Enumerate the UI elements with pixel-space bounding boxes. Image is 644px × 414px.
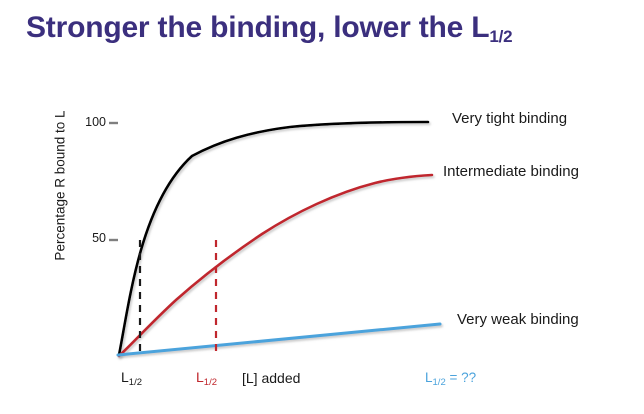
lhalf-label-intermediate-main: L	[196, 369, 204, 385]
lhalf-label-weak-tail: = ??	[446, 370, 476, 385]
curve-very-weak-binding	[118, 324, 440, 355]
lhalf-label-weak-main: L	[425, 370, 433, 385]
binding-curve-chart	[0, 0, 644, 414]
curve-very-tight-binding	[119, 122, 428, 355]
lhalf-label-tight-main: L	[121, 369, 129, 385]
lhalf-label-weak: L1/2 = ??	[425, 370, 476, 388]
lhalf-label-tight: L1/2	[121, 369, 142, 388]
annotation-very-weak-binding: Very weak binding	[457, 311, 579, 328]
y-axis-label: Percentage R bound to L	[53, 86, 68, 286]
annotation-intermediate-binding: Intermediate binding	[443, 163, 579, 180]
annotation-very-tight-binding: Very tight binding	[452, 110, 567, 127]
lhalf-label-intermediate-sub: 1/2	[204, 377, 217, 388]
x-axis-label: [L] added	[242, 370, 300, 386]
slide-canvas: Stronger the binding, lower the L1/2	[0, 0, 644, 414]
y-tick-label-100: 100	[80, 115, 106, 129]
lhalf-label-weak-sub: 1/2	[433, 377, 446, 388]
lhalf-label-tight-sub: 1/2	[129, 377, 142, 388]
lhalf-label-intermediate: L1/2	[196, 369, 217, 388]
y-tick-label-50: 50	[80, 231, 106, 245]
